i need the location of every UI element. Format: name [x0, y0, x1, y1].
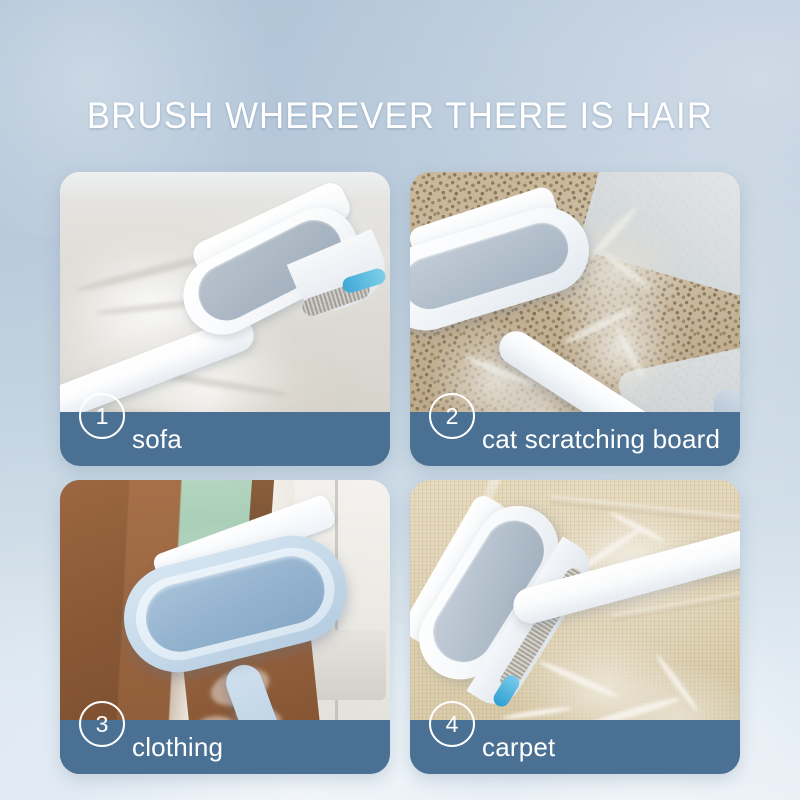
scenario-card-carpet[interactable]: 4 carpet: [410, 480, 740, 774]
card-number-badge: 4: [429, 701, 475, 747]
card-caption-bar: 3 clothing: [60, 720, 390, 774]
card-number-badge: 2: [429, 393, 475, 439]
card-label: cat scratching board: [482, 424, 720, 454]
usage-scenario-grid: 1 sofa: [60, 172, 740, 774]
card-caption-bar: 2 cat scratching board: [410, 412, 740, 466]
product-feature-poster: BRUSH WHEREVER THERE IS HAIR: [0, 0, 800, 800]
card-caption-bar: 1 sofa: [60, 412, 390, 466]
card-label: sofa: [132, 424, 182, 454]
card-label: carpet: [482, 732, 555, 762]
scenario-card-clothing[interactable]: 3 clothing: [60, 480, 390, 774]
card-number-badge: 3: [79, 701, 125, 747]
scenario-card-cat-scratching-board[interactable]: 2 cat scratching board: [410, 172, 740, 466]
card-label: clothing: [132, 732, 223, 762]
scenario-card-sofa[interactable]: 1 sofa: [60, 172, 390, 466]
page-title: BRUSH WHEREVER THERE IS HAIR: [24, 96, 776, 136]
card-number-badge: 1: [79, 393, 125, 439]
card-caption-bar: 4 carpet: [410, 720, 740, 774]
